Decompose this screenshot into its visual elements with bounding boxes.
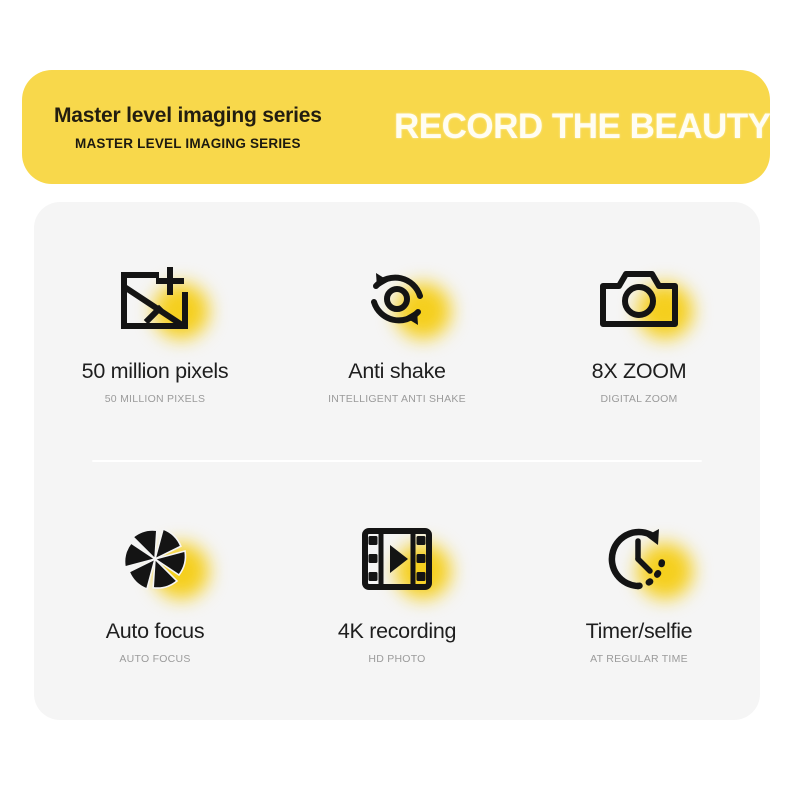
banner-title-group: Master level imaging series MASTER LEVEL… [54,103,322,151]
banner-title: Master level imaging series [54,103,322,128]
feature-row-2: Auto focus AUTO FOCUS [34,462,760,720]
feature-row-1: 50 million pixels 50 MILLION PIXELS [34,202,760,460]
promo-page: Master level imaging series MASTER LEVEL… [0,0,800,800]
banner-headline: RECORD THE BEAUTY [394,107,771,147]
feature-item-anti-shake[interactable]: Anti shake INTELLIGENT ANTI SHAKE [276,257,518,405]
icon-container [591,517,687,601]
icon-container [107,517,203,601]
feature-sublabel: 50 MILLION PIXELS [105,393,206,405]
banner-subtitle: MASTER LEVEL IMAGING SERIES [75,136,301,151]
feature-item-auto-focus[interactable]: Auto focus AUTO FOCUS [34,517,276,665]
feature-sublabel: AUTO FOCUS [119,653,190,665]
icon-container [349,517,445,601]
feature-grid: 50 million pixels 50 MILLION PIXELS [34,202,760,720]
icon-container [107,257,203,341]
image-plus-icon [118,266,192,332]
feature-label: 4K recording [338,619,456,644]
film-strip-play-icon [361,527,433,591]
feature-label: 8X ZOOM [592,359,687,384]
icon-container [591,257,687,341]
aperture-shutter-icon [119,523,191,595]
feature-label: Anti shake [348,359,445,384]
feature-item-zoom[interactable]: 8X ZOOM DIGITAL ZOOM [518,257,760,405]
header-banner: Master level imaging series MASTER LEVEL… [22,70,770,184]
feature-sublabel: INTELLIGENT ANTI SHAKE [328,393,466,405]
feature-label: 50 million pixels [82,359,229,384]
feature-sublabel: DIGITAL ZOOM [600,393,677,405]
icon-container [349,257,445,341]
feature-sublabel: AT REGULAR TIME [590,653,688,665]
feature-card: 50 million pixels 50 MILLION PIXELS [34,202,760,720]
feature-item-recording[interactable]: 4K recording HD PHOTO [276,517,518,665]
anti-shake-rotate-icon [362,264,432,334]
row-divider [92,460,702,462]
camera-icon [599,268,679,330]
timer-clock-icon [602,524,676,594]
feature-label: Timer/selfie [586,619,693,644]
feature-label: Auto focus [106,619,205,644]
feature-sublabel: HD PHOTO [368,653,425,665]
feature-item-pixels[interactable]: 50 million pixels 50 MILLION PIXELS [34,257,276,405]
feature-item-timer[interactable]: Timer/selfie AT REGULAR TIME [518,517,760,665]
